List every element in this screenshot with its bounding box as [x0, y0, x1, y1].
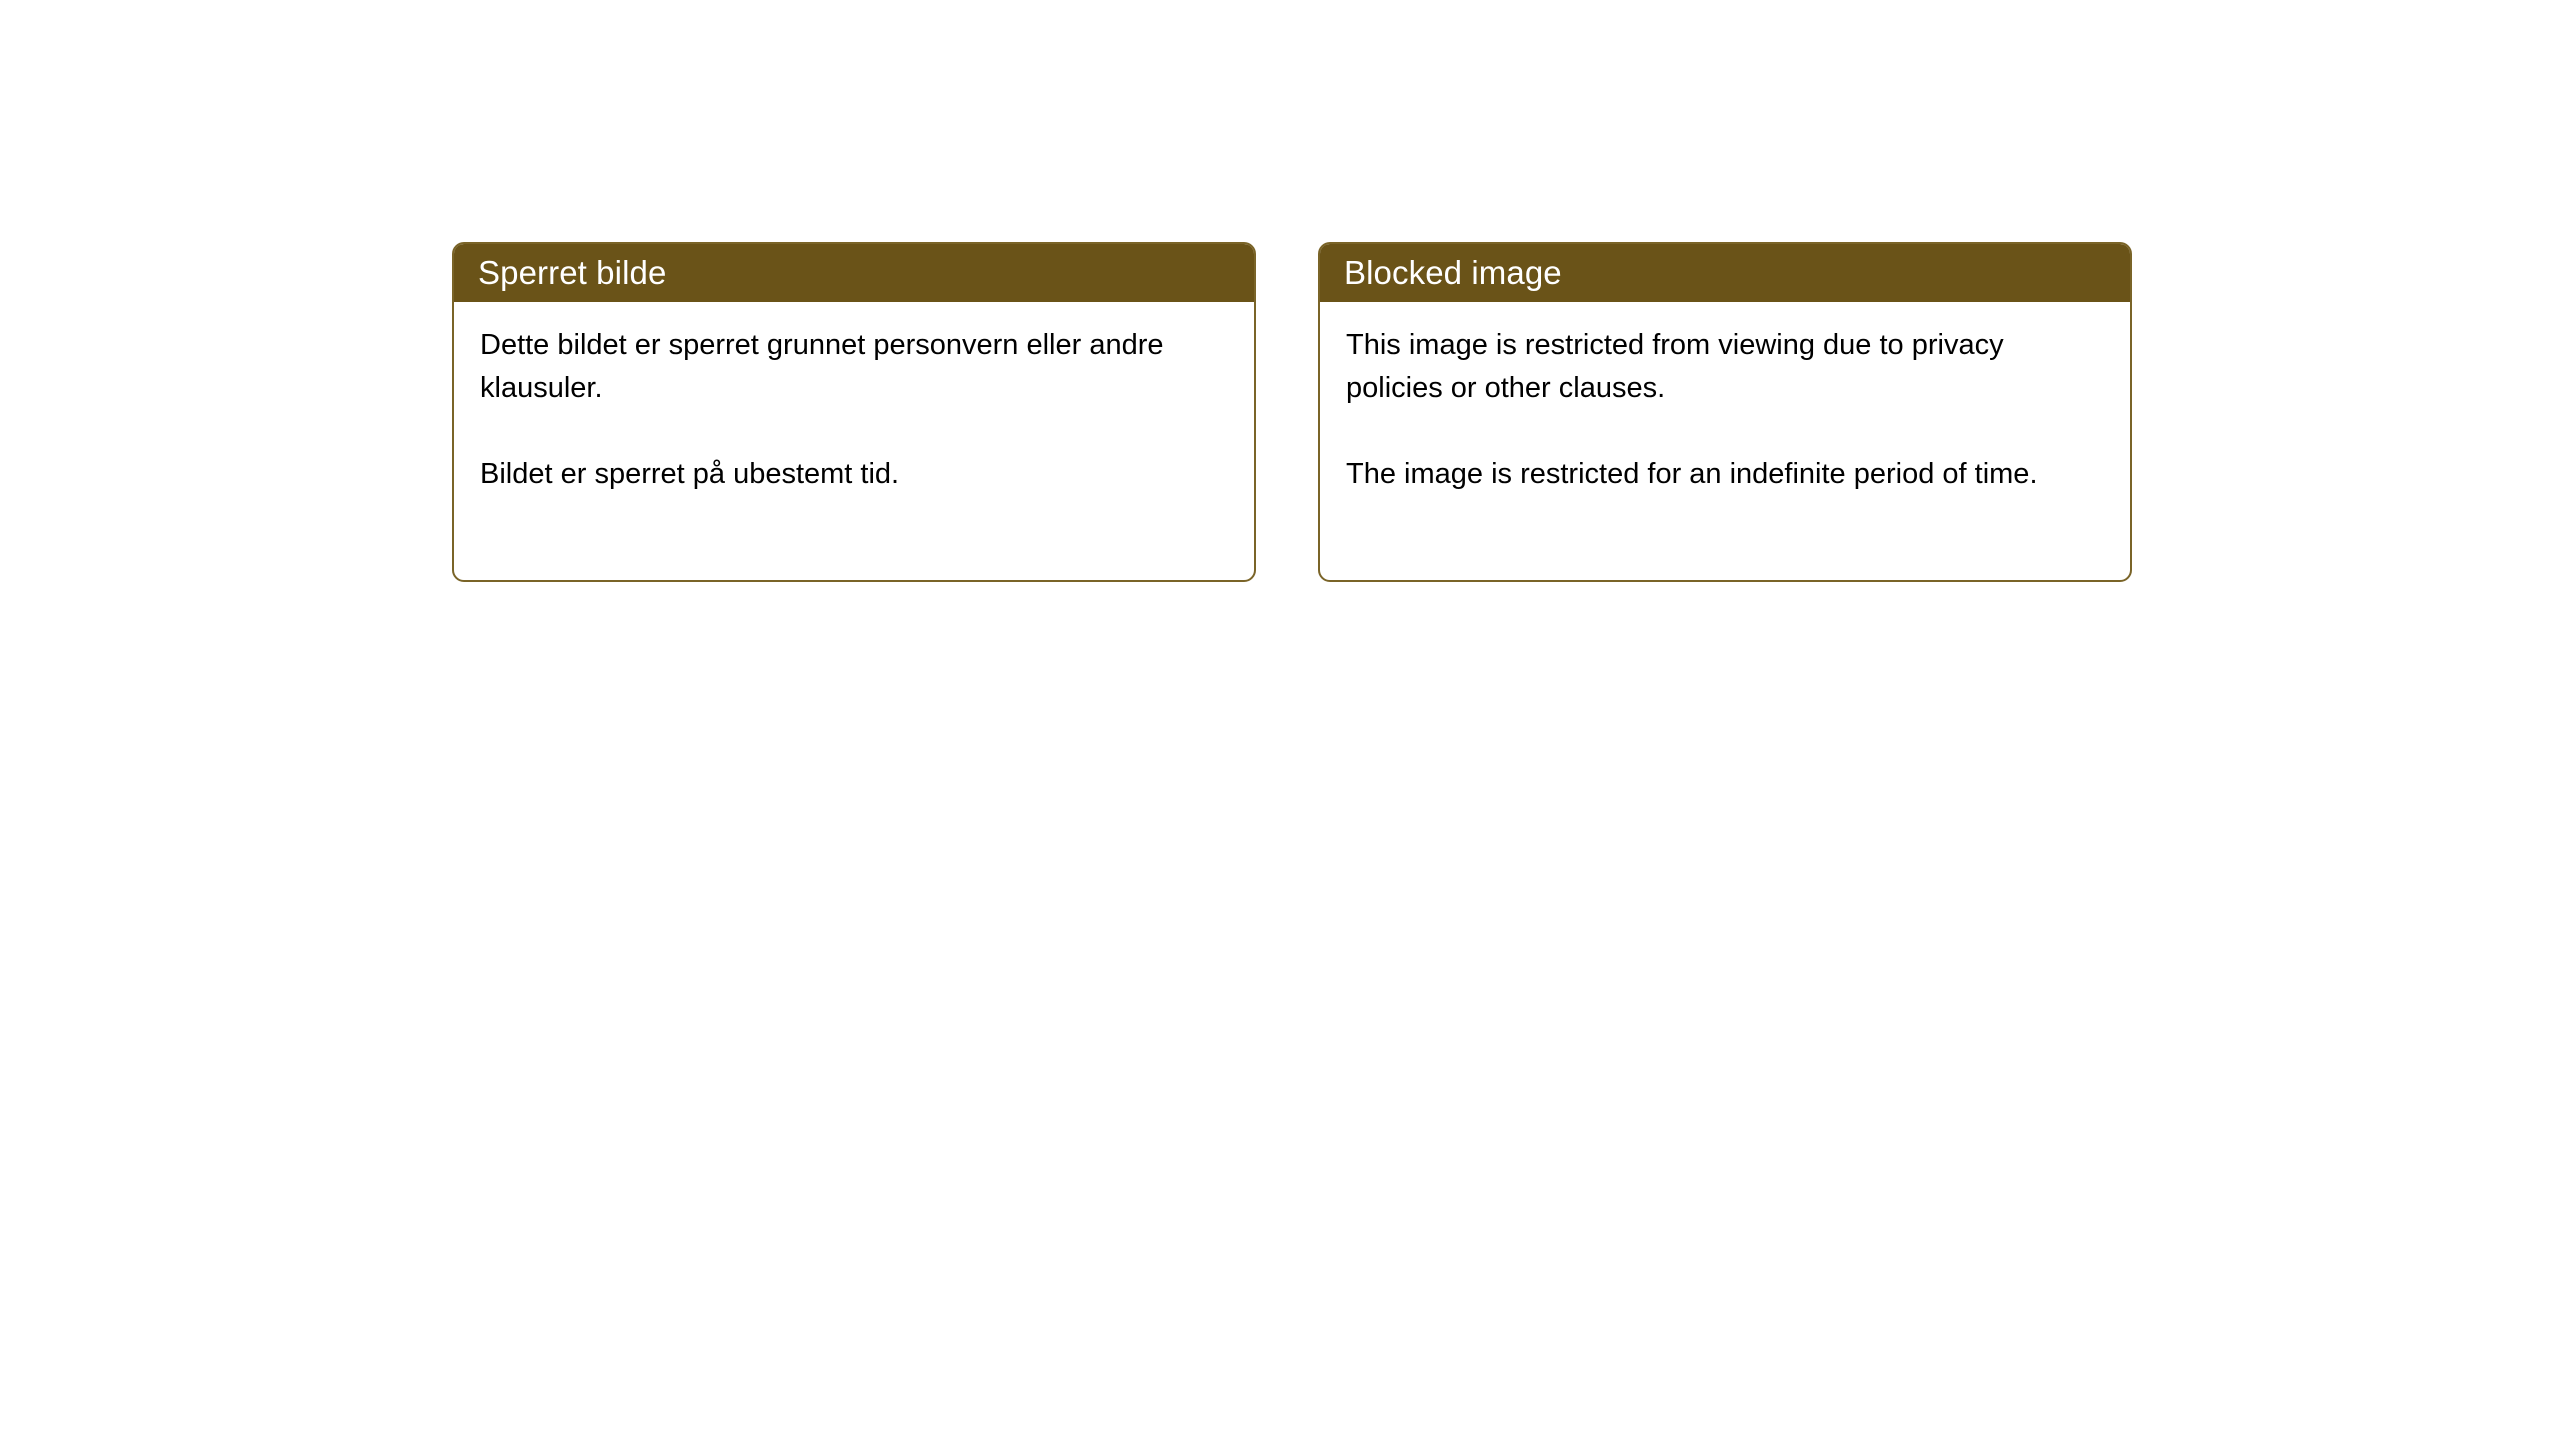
card-title-english: Blocked image [1344, 254, 1562, 292]
card-paragraph-duration-english: The image is restricted for an indefinit… [1346, 453, 2104, 496]
blocked-image-card-english: Blocked image This image is restricted f… [1318, 242, 2132, 582]
card-paragraph-duration-norwegian: Bildet er sperret på ubestemt tid. [480, 453, 1228, 496]
card-title-norwegian: Sperret bilde [478, 254, 666, 292]
card-header-norwegian: Sperret bilde [454, 244, 1254, 302]
blocked-image-card-norwegian: Sperret bilde Dette bildet er sperret gr… [452, 242, 1256, 582]
card-body-norwegian: Dette bildet er sperret grunnet personve… [454, 302, 1254, 496]
card-paragraph-reason-norwegian: Dette bildet er sperret grunnet personve… [480, 324, 1228, 410]
card-paragraph-reason-english: This image is restricted from viewing du… [1346, 324, 2104, 410]
page-canvas: Sperret bilde Dette bildet er sperret gr… [0, 0, 2560, 1440]
card-header-english: Blocked image [1320, 244, 2130, 302]
card-body-english: This image is restricted from viewing du… [1320, 302, 2130, 496]
